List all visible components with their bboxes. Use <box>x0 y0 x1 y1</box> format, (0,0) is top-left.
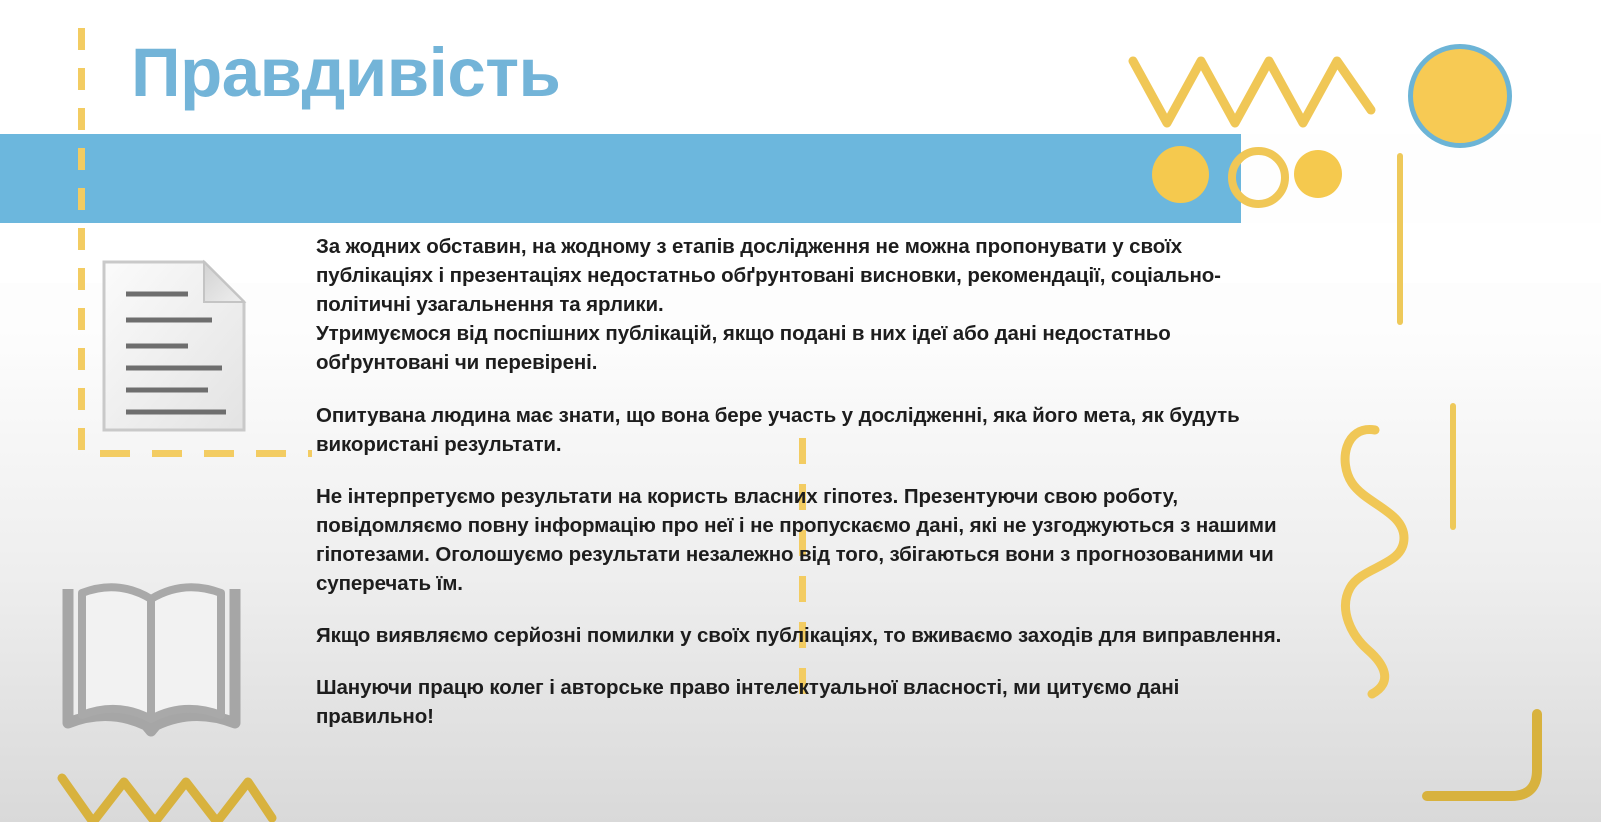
slide-canvas: Правдивість <box>0 0 1601 822</box>
paragraph-spacer <box>316 378 1301 401</box>
dashed-line-horizontal-left <box>100 450 312 457</box>
paragraph-3: Опитувана людина має знати, що вона бере… <box>316 401 1301 459</box>
paragraph-5: Якщо виявляємо серйозні помилки у своїх … <box>316 621 1301 650</box>
corner-bracket-bottom-right-icon <box>1427 714 1537 796</box>
zigzag-bottom-left-icon <box>62 778 272 822</box>
paragraph-spacer <box>316 598 1301 621</box>
line-vertical-right-middle <box>1450 403 1456 530</box>
squiggle-right-icon <box>1345 430 1404 694</box>
circle-big-ringed-icon <box>1408 44 1512 148</box>
paragraph-spacer <box>316 650 1301 673</box>
body-text-block: За жодних обставин, на жодному з етапів … <box>316 232 1301 732</box>
line-vertical-right-top <box>1397 153 1403 325</box>
paragraph-4: Не інтерпретуємо результати на користь в… <box>316 482 1301 598</box>
circle-outline-icon <box>1228 147 1289 208</box>
paragraph-spacer <box>316 459 1301 482</box>
circle-filled-small-left-icon <box>1152 146 1209 203</box>
page-title: Правдивість <box>131 38 560 107</box>
paragraph-1: За жодних обставин, на жодному з етапів … <box>316 232 1301 319</box>
open-book-icon <box>58 567 245 749</box>
circle-filled-small-right-icon <box>1294 150 1342 198</box>
document-icon <box>100 258 248 434</box>
paragraph-6: Шануючи працю колег і авторське право ін… <box>316 673 1301 731</box>
blue-banner-bar <box>0 134 1241 223</box>
dashed-line-vertical-left <box>78 28 85 458</box>
paragraph-2: Утримуємося від поспішних публікацій, як… <box>316 319 1301 377</box>
